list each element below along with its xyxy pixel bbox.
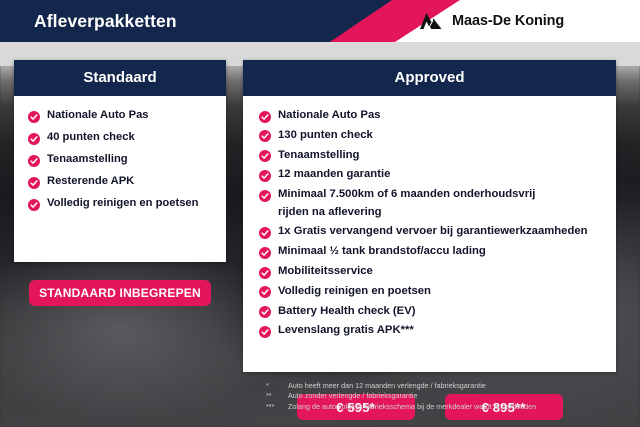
feature-list-standaard: Nationale Auto Pas 40 punten check Tenaa… [28,109,216,219]
footnote-marker: *** [266,402,288,412]
check-circle-icon [259,170,271,182]
feature-label: Levenslang gratis APK*** [278,324,414,337]
list-item: Minimaal ½ tank brandstof/accu lading [259,245,606,259]
check-circle-icon [28,199,40,211]
package-card-approved: Approved Nationale Auto Pas 130 punten c… [243,60,616,372]
list-item: Nationale Auto Pas [28,109,216,123]
standaard-inbegrepen-button[interactable]: STANDAARD INBEGREPEN [29,280,211,306]
package-card-standaard: Standaard Nationale Auto Pas 40 punten c… [14,60,226,262]
footnote-text: Auto zonder verlengde / fabrieksgarantie [288,391,626,401]
list-item: Resterende APK [28,175,216,189]
card-title-approved: Approved [243,60,616,96]
check-circle-icon [259,286,271,298]
list-item: Battery Health check (EV) [259,305,606,319]
list-item: Minimaal 7.500km of 6 maanden onderhouds… [259,188,606,219]
list-item: 40 punten check [28,131,216,145]
card-title-standaard: Standaard [14,60,226,96]
list-item: Nationale Auto Pas [259,109,606,123]
check-circle-icon [259,190,271,202]
feature-label: Tenaamstelling [47,153,128,166]
check-circle-icon [259,306,271,318]
feature-label: Tenaamstelling [278,149,359,162]
feature-label: Volledig reinigen en poetsen [278,285,431,298]
check-circle-icon [259,247,271,259]
check-circle-icon [28,133,40,145]
check-circle-icon [259,326,271,338]
feature-label: Volledig reinigen en poetsen [47,197,198,210]
footnote-row: * Auto heeft meer dan 12 maanden verleng… [266,381,626,391]
check-circle-icon [259,227,271,239]
list-item: 1x Gratis vervangend vervoer bij garanti… [259,225,606,239]
feature-label: Minimaal 7.500km of 6 maanden onderhouds… [278,188,535,219]
feature-label: Minimaal ½ tank brandstof/accu lading [278,245,486,258]
feature-label: 130 punten check [278,129,373,142]
list-item: Levenslang gratis APK*** [259,324,606,338]
footnote-marker: * [266,381,288,391]
feature-label-line2: rijden na aflevering [278,206,535,219]
check-circle-icon [259,150,271,162]
footnote-text: Auto heeft meer dan 12 maanden verlengde… [288,381,626,391]
list-item: Mobiliteitsservice [259,265,606,279]
page-title: Afleverpakketten [34,0,177,42]
footnote-row: ** Auto zonder verlengde / fabrieksgaran… [266,391,626,401]
list-item: Volledig reinigen en poetsen [259,285,606,299]
list-item: Tenaamstelling [259,149,606,163]
maas-de-koning-m-mark-icon [418,11,444,31]
feature-label: 12 maanden garantie [278,168,390,181]
list-item: Volledig reinigen en poetsen [28,197,216,211]
feature-label: 1x Gratis vervangend vervoer bij garanti… [278,225,588,238]
brand-logo: Maas-De Koning [418,0,564,42]
list-item: Tenaamstelling [28,153,216,167]
check-circle-icon [28,155,40,167]
brand-name: Maas-De Koning [452,13,564,29]
check-circle-icon [259,130,271,142]
footnote-text: Zolang de auto volgens fabrieksschema bi… [288,402,626,412]
feature-label-line1: Minimaal 7.500km of 6 maanden onderhouds… [278,188,535,200]
list-item: 12 maanden garantie [259,168,606,182]
feature-list-approved: Nationale Auto Pas 130 punten check Tena… [259,109,606,344]
feature-label: Battery Health check (EV) [278,305,416,318]
check-circle-icon [259,111,271,123]
check-circle-icon [259,267,271,279]
footnotes: * Auto heeft meer dan 12 maanden verleng… [266,381,626,412]
feature-label: Resterende APK [47,175,134,188]
feature-label: 40 punten check [47,131,135,144]
feature-label: Nationale Auto Pas [47,109,149,122]
feature-label: Nationale Auto Pas [278,109,381,122]
check-circle-icon [28,177,40,189]
footnote-row: *** Zolang de auto volgens fabrieksschem… [266,402,626,412]
footnote-marker: ** [266,391,288,401]
check-circle-icon [28,111,40,123]
feature-label: Mobiliteitsservice [278,265,373,278]
header-bar: Afleverpakketten Maas-De Koning [0,0,640,42]
list-item: 130 punten check [259,129,606,143]
